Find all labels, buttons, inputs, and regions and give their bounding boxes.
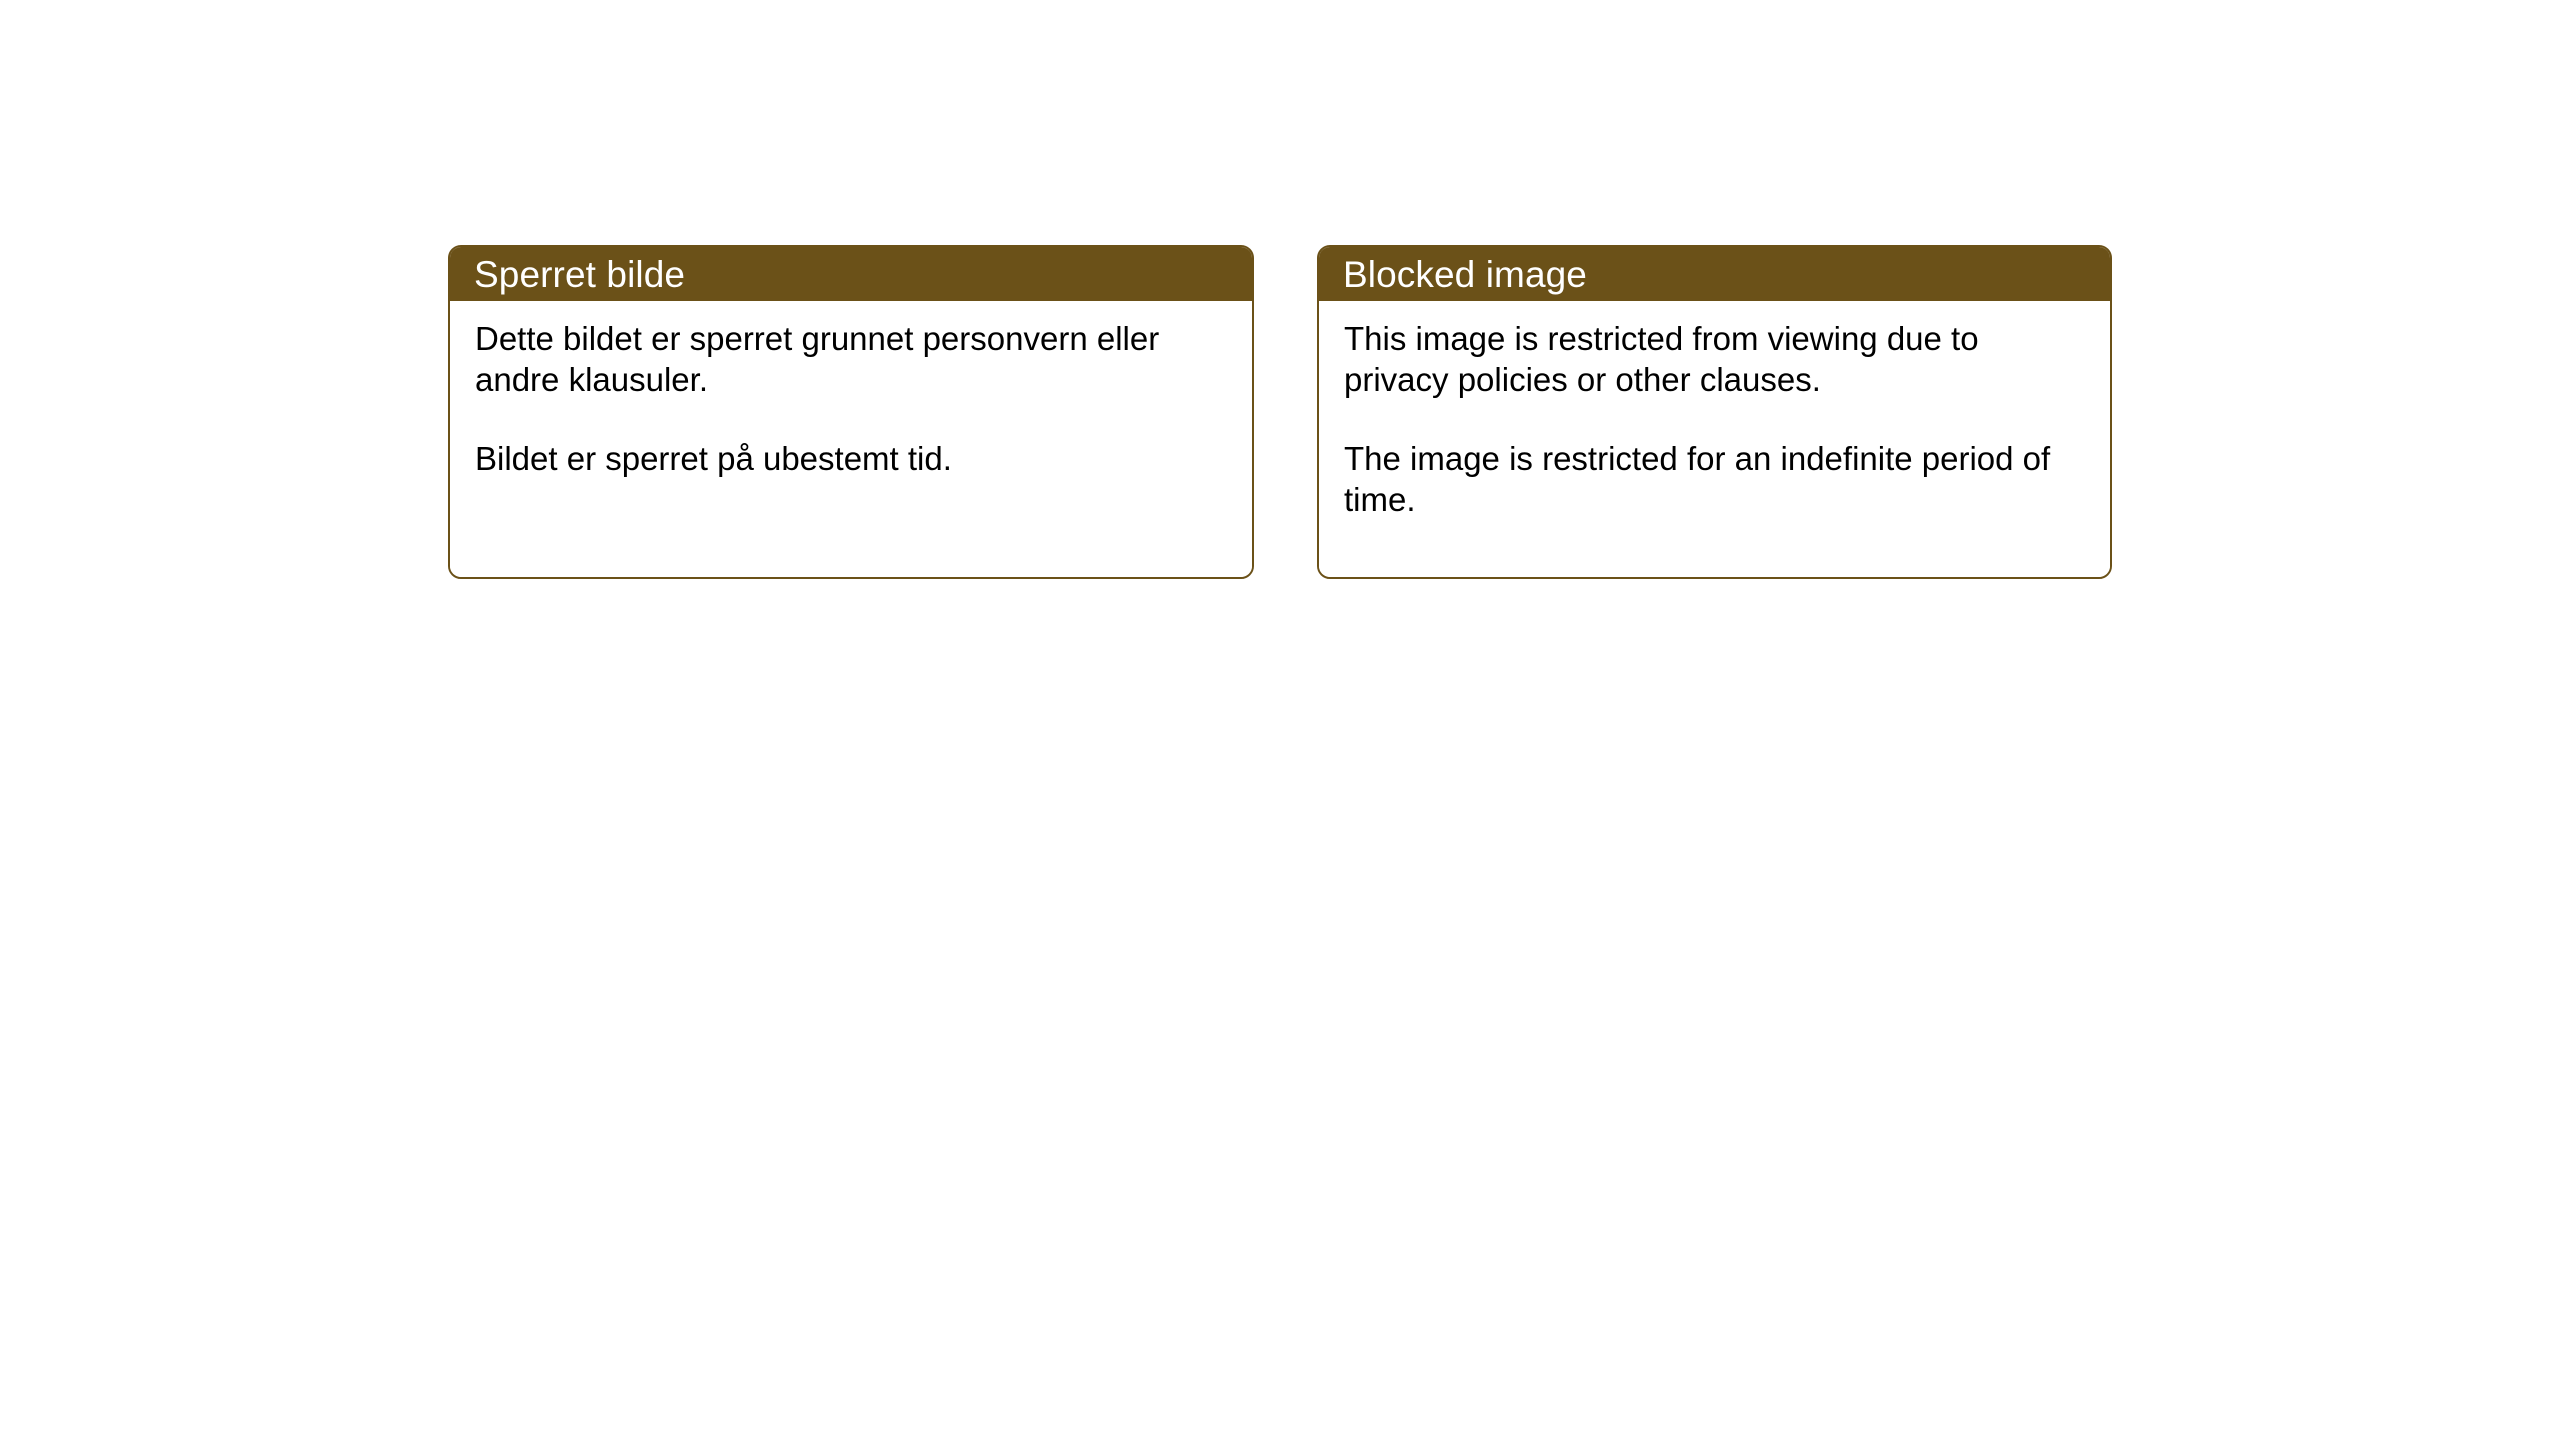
card-paragraph-primary-norwegian: Dette bildet er sperret grunnet personve…: [475, 319, 1230, 401]
card-body-english: This image is restricted from viewing du…: [1319, 301, 2110, 577]
card-header-english: Blocked image: [1319, 247, 2110, 301]
blocked-image-notices: Sperret bilde Dette bildet er sperret gr…: [448, 245, 2112, 579]
card-paragraph-primary-english: This image is restricted from viewing du…: [1344, 319, 2088, 401]
card-title-norwegian: Sperret bilde: [474, 256, 685, 293]
page-canvas: Sperret bilde Dette bildet er sperret gr…: [0, 0, 2560, 1440]
card-paragraph-secondary-english: The image is restricted for an indefinit…: [1344, 439, 2088, 521]
blocked-image-card-norwegian: Sperret bilde Dette bildet er sperret gr…: [448, 245, 1254, 579]
blocked-image-card-english: Blocked image This image is restricted f…: [1317, 245, 2112, 579]
card-paragraph-secondary-norwegian: Bildet er sperret på ubestemt tid.: [475, 439, 1230, 480]
card-title-english: Blocked image: [1343, 256, 1587, 293]
card-header-norwegian: Sperret bilde: [450, 247, 1252, 301]
card-body-norwegian: Dette bildet er sperret grunnet personve…: [450, 301, 1252, 577]
